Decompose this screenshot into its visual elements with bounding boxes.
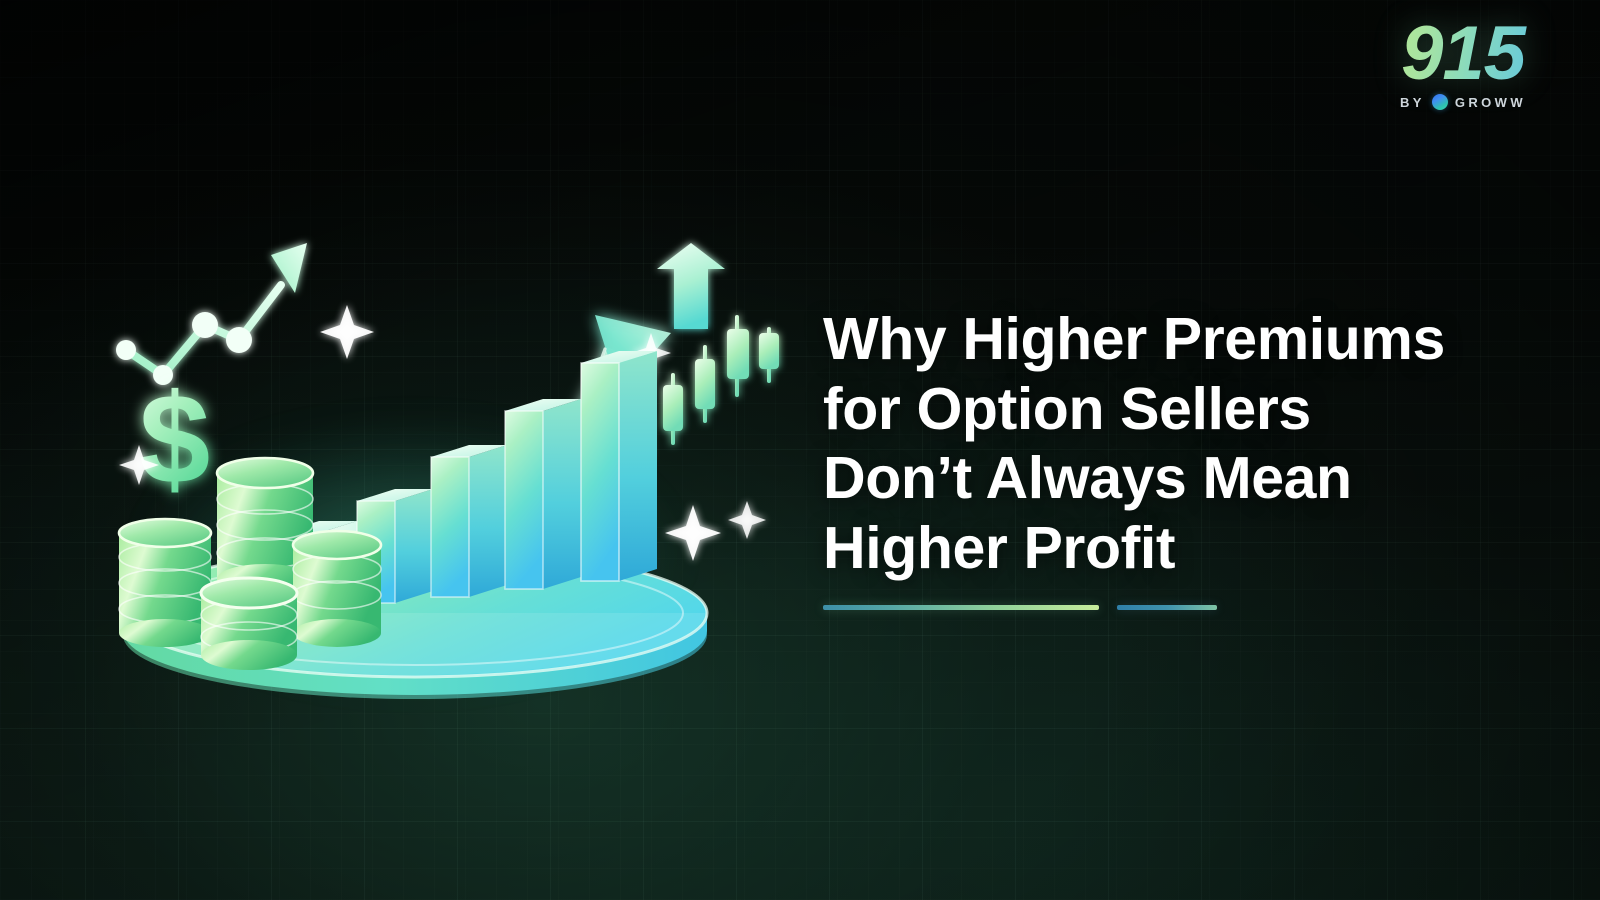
candle [695, 345, 715, 423]
candle [727, 315, 749, 397]
accent-rule-secondary [1117, 605, 1217, 610]
page-title: Why Higher Premiums for Option Sellers D… [823, 305, 1523, 583]
bar [581, 351, 657, 581]
up-arrow-icon [657, 243, 725, 329]
accent-rule-primary [823, 605, 1099, 610]
line-node [192, 312, 218, 338]
bar [505, 399, 581, 589]
zigzag-line-chart [116, 243, 307, 385]
line-node [116, 340, 136, 360]
dollar-sign-icon: $ [139, 368, 210, 511]
headline-line-4: Higher Profit [823, 514, 1523, 584]
logo-byline: BY GROWW [1368, 94, 1558, 110]
headline-line-1: Why Higher Premiums [823, 305, 1523, 375]
groww-dot-icon [1432, 94, 1448, 110]
logo-915-mark: 915 [1368, 18, 1558, 90]
sparkle-icon [728, 501, 766, 539]
cover-canvas: $ [0, 0, 1600, 900]
headline-line-3: Don’t Always Mean [823, 444, 1523, 514]
bar [431, 445, 507, 597]
logo-by-label: BY [1400, 95, 1425, 110]
sparkle-icon [320, 305, 374, 359]
coin-stack [119, 519, 211, 647]
svg-text:$: $ [139, 368, 210, 511]
sparkle-icon [665, 505, 721, 561]
headline-line-2: for Option Sellers [823, 375, 1523, 445]
accent-rule-row [823, 605, 1217, 610]
brand-logo[interactable]: 915 BY GROWW [1368, 18, 1558, 110]
headline-block: Why Higher Premiums for Option Sellers D… [823, 305, 1523, 583]
3d-financial-growth-illustration: $ [95, 215, 785, 685]
candle [759, 327, 779, 383]
logo-company-label: GROWW [1455, 95, 1526, 110]
coin-stack [293, 531, 381, 647]
candle [663, 373, 683, 445]
coin-stack [201, 578, 297, 670]
line-node [226, 327, 252, 353]
